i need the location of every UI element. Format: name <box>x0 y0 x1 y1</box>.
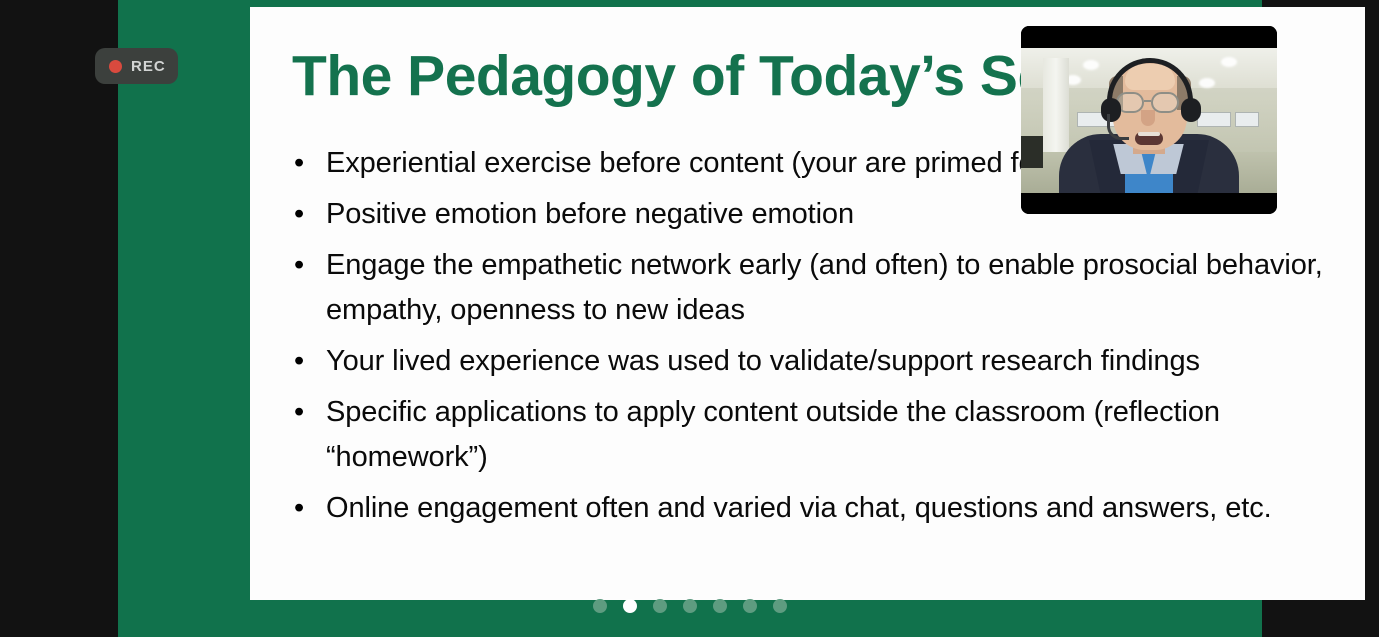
bullet-marker-icon: • <box>288 390 326 435</box>
presenter-nose <box>1141 110 1155 126</box>
pagination-dot-5[interactable] <box>713 599 727 613</box>
pagination-dot-7[interactable] <box>773 599 787 613</box>
bullet-item: • Specific applications to apply content… <box>288 390 1323 480</box>
video-frame <box>1021 48 1277 193</box>
recording-badge[interactable]: REC <box>95 48 178 84</box>
video-letterbox-bottom <box>1021 193 1277 214</box>
pagination-dot-1[interactable] <box>593 599 607 613</box>
pagination-dot-6[interactable] <box>743 599 757 613</box>
pagination-dot-4[interactable] <box>683 599 697 613</box>
bullet-text: Specific applications to apply content o… <box>326 390 1323 480</box>
bullet-marker-icon: • <box>288 339 326 384</box>
screen-capture: The Pedagogy of Today’s Session • Experi… <box>0 0 1379 637</box>
bullet-item: • Your lived experience was used to vali… <box>288 339 1323 384</box>
bullet-marker-icon: • <box>288 141 326 186</box>
video-letterbox-top <box>1021 26 1277 48</box>
bullet-marker-icon: • <box>288 243 326 288</box>
background-window <box>1235 112 1259 127</box>
ceiling-light-icon <box>1221 57 1237 67</box>
pagination-dot-2[interactable] <box>623 599 637 613</box>
presenter-video-overlay[interactable] <box>1021 26 1277 214</box>
bullet-item: • Online engagement often and varied via… <box>288 486 1323 531</box>
background-window <box>1197 112 1231 127</box>
bullet-text: Your lived experience was used to valida… <box>326 339 1323 384</box>
ceiling-light-icon <box>1083 60 1099 70</box>
bullet-marker-icon: • <box>288 192 326 237</box>
slide-pagination[interactable] <box>0 599 1379 613</box>
presenter-teeth <box>1138 132 1160 136</box>
bullet-marker-icon: • <box>288 486 326 531</box>
recording-label: REC <box>131 58 166 75</box>
ceiling-light-icon <box>1199 78 1215 88</box>
bullet-text: Engage the empathetic network early (and… <box>326 243 1323 333</box>
pagination-dot-3[interactable] <box>653 599 667 613</box>
bullet-item: • Engage the empathetic network early (a… <box>288 243 1323 333</box>
record-dot-icon <box>109 60 122 73</box>
background-object <box>1021 136 1043 168</box>
headset-earcup-right-icon <box>1181 98 1201 122</box>
bullet-text: Online engagement often and varied via c… <box>326 486 1323 531</box>
